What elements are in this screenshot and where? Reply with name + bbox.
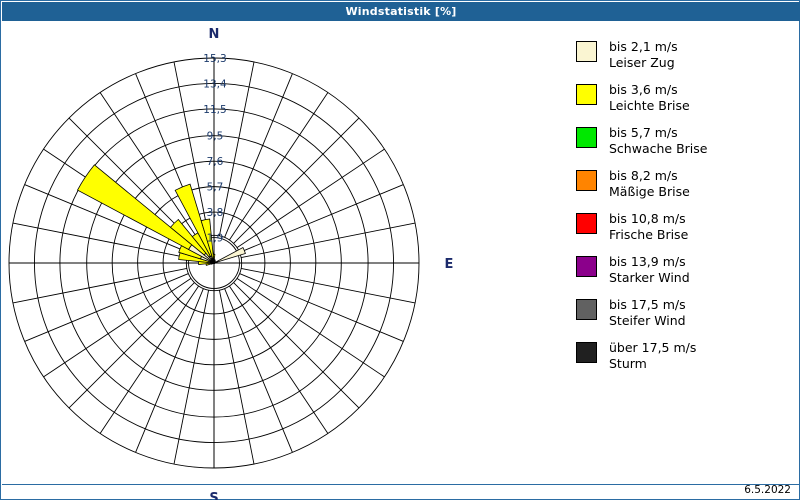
legend-name-label: Starker Wind bbox=[609, 270, 690, 286]
legend-color-swatch bbox=[576, 84, 597, 105]
legend-item: bis 8,2 m/sMäßige Brise bbox=[576, 168, 791, 206]
compass-label-south: S bbox=[209, 491, 218, 500]
legend-speed-label: bis 8,2 m/s bbox=[609, 168, 690, 184]
windrose-chart: NESW1,93,85,77,69,511,513,415,3 bbox=[2, 21, 562, 500]
legend-label: über 17,5 m/sSturm bbox=[609, 340, 696, 371]
legend-color-swatch bbox=[576, 342, 597, 363]
legend-item: bis 5,7 m/sSchwache Brise bbox=[576, 125, 791, 163]
status-divider bbox=[2, 484, 800, 485]
legend-name-label: Leichte Brise bbox=[609, 98, 690, 114]
legend-label: bis 10,8 m/sFrische Brise bbox=[609, 211, 688, 242]
radial-tick-label: 9,5 bbox=[207, 131, 224, 143]
legend-color-swatch bbox=[576, 41, 597, 62]
window-title-bar: Windstatistik [%] bbox=[2, 2, 800, 21]
legend-name-label: Schwache Brise bbox=[609, 141, 707, 157]
legend-speed-label: bis 2,1 m/s bbox=[609, 39, 678, 55]
radial-tick-label: 1,9 bbox=[207, 233, 224, 245]
legend-color-swatch bbox=[576, 127, 597, 148]
grid-spoke bbox=[44, 278, 191, 377]
grid-spoke bbox=[69, 283, 194, 408]
grid-spoke bbox=[13, 268, 187, 303]
legend-speed-label: bis 5,7 m/s bbox=[609, 125, 707, 141]
radial-tick-label: 13,4 bbox=[203, 78, 227, 90]
legend-speed-label: bis 10,8 m/s bbox=[609, 211, 688, 227]
grid-spoke bbox=[219, 290, 254, 464]
radial-tick-label: 15,3 bbox=[203, 53, 226, 65]
legend-speed-label: bis 13,9 m/s bbox=[609, 254, 690, 270]
legend: bis 2,1 m/sLeiser Zugbis 3,6 m/sLeichte … bbox=[576, 39, 791, 383]
legend-speed-label: bis 17,5 m/s bbox=[609, 297, 686, 313]
page-title: Windstatistik [%] bbox=[345, 5, 456, 18]
grid-spoke bbox=[237, 278, 384, 377]
application-window: Windstatistik [%] NESW1,93,85,77,69,511,… bbox=[0, 0, 800, 500]
date-stamp: 6.5.2022 bbox=[744, 484, 791, 496]
grid-spoke bbox=[234, 118, 359, 243]
radial-tick-label: 7,6 bbox=[207, 156, 224, 168]
legend-name-label: Sturm bbox=[609, 356, 696, 372]
compass-label-east: E bbox=[445, 257, 454, 272]
legend-label: bis 8,2 m/sMäßige Brise bbox=[609, 168, 690, 199]
radial-tick-label: 11,5 bbox=[203, 104, 226, 116]
legend-color-swatch bbox=[576, 170, 597, 191]
grid-spoke bbox=[237, 149, 384, 248]
radial-tick-label: 5,7 bbox=[207, 182, 224, 194]
legend-item: bis 13,9 m/sStarker Wind bbox=[576, 254, 791, 292]
compass-label-north: N bbox=[209, 27, 220, 42]
grid-spoke bbox=[229, 93, 328, 240]
wind-sector bbox=[214, 248, 245, 263]
legend-item: bis 2,1 m/sLeiser Zug bbox=[576, 39, 791, 77]
legend-color-swatch bbox=[576, 213, 597, 234]
legend-speed-label: über 17,5 m/s bbox=[609, 340, 696, 356]
legend-label: bis 17,5 m/sSteifer Wind bbox=[609, 297, 686, 328]
legend-color-swatch bbox=[576, 256, 597, 277]
grid-spoke bbox=[234, 283, 359, 408]
legend-speed-label: bis 3,6 m/s bbox=[609, 82, 690, 98]
legend-name-label: Leiser Zug bbox=[609, 55, 678, 71]
grid-spoke bbox=[241, 223, 415, 258]
legend-name-label: Steifer Wind bbox=[609, 313, 686, 329]
legend-label: bis 5,7 m/sSchwache Brise bbox=[609, 125, 707, 156]
legend-color-swatch bbox=[576, 299, 597, 320]
grid-spoke bbox=[100, 286, 199, 433]
windrose-svg: NESW1,93,85,77,69,511,513,415,3 bbox=[2, 21, 562, 500]
legend-name-label: Mäßige Brise bbox=[609, 184, 690, 200]
legend-item: bis 3,6 m/sLeichte Brise bbox=[576, 82, 791, 120]
legend-label: bis 3,6 m/sLeichte Brise bbox=[609, 82, 690, 113]
legend-item: bis 10,8 m/sFrische Brise bbox=[576, 211, 791, 249]
grid-spoke bbox=[241, 268, 415, 303]
legend-item: über 17,5 m/sSturm bbox=[576, 340, 791, 378]
legend-item: bis 17,5 m/sSteifer Wind bbox=[576, 297, 791, 335]
wind-sector bbox=[78, 165, 192, 250]
grid-spoke bbox=[174, 290, 209, 464]
legend-label: bis 13,9 m/sStarker Wind bbox=[609, 254, 690, 285]
radial-tick-label: 3,8 bbox=[207, 207, 224, 219]
legend-label: bis 2,1 m/sLeiser Zug bbox=[609, 39, 678, 70]
legend-name-label: Frische Brise bbox=[609, 227, 688, 243]
grid-spoke bbox=[229, 286, 328, 433]
